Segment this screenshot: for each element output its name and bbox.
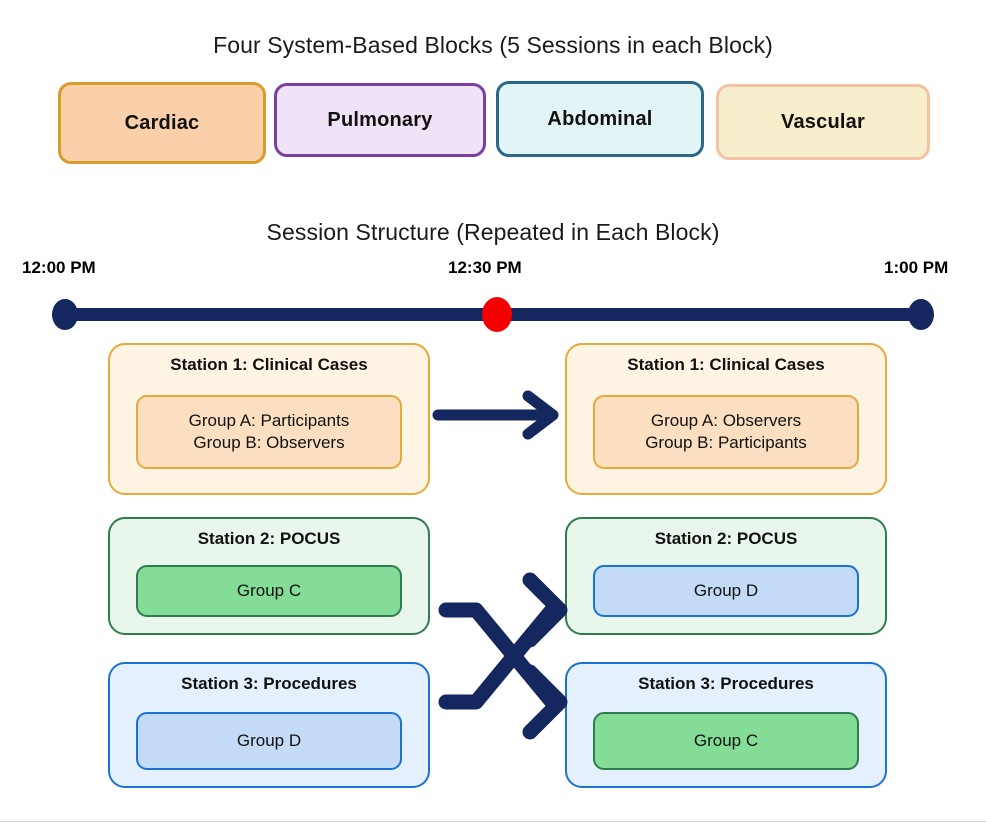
group-box: Group A: Participants Group B: Observers xyxy=(136,395,402,469)
station-card-right-3[interactable]: Station 3: Procedures Group C xyxy=(565,662,887,788)
footer-divider xyxy=(0,821,986,822)
group-box: Group C xyxy=(593,712,859,770)
group-box: Group D xyxy=(136,712,402,770)
station-card-left-1[interactable]: Station 1: Clinical Cases Group A: Parti… xyxy=(108,343,430,495)
timeline-start-dot xyxy=(52,299,78,330)
station-title: Station 3: Procedures xyxy=(567,674,885,694)
station-title: Station 1: Clinical Cases xyxy=(110,355,428,375)
station-title: Station 2: POCUS xyxy=(567,529,885,549)
block-chip-pulmonary[interactable]: Pulmonary xyxy=(274,83,486,157)
shuffle-icon xyxy=(432,562,600,740)
system-blocks-row: Cardiac Pulmonary Abdominal Vascular xyxy=(56,80,932,170)
station-title: Station 1: Clinical Cases xyxy=(567,355,885,375)
timeline-mid-label: 12:30 PM xyxy=(448,258,522,278)
timeline-mid-dot xyxy=(482,297,512,332)
timeline-start-label: 12:00 PM xyxy=(22,258,96,278)
diagram-canvas: Four System-Based Blocks (5 Sessions in … xyxy=(0,0,986,825)
station-title: Station 3: Procedures xyxy=(110,674,428,694)
session-timeline: 12:00 PM 12:30 PM 1:00 PM xyxy=(0,258,986,328)
station-card-left-3[interactable]: Station 3: Procedures Group D xyxy=(108,662,430,788)
group-line: Group A: Observers xyxy=(651,410,801,432)
timeline-end-dot xyxy=(908,299,934,330)
timeline-end-label: 1:00 PM xyxy=(884,258,948,278)
group-line: Group D xyxy=(694,580,758,602)
group-line: Group D xyxy=(237,730,301,752)
station-title: Station 2: POCUS xyxy=(110,529,428,549)
group-line: Group C xyxy=(694,730,758,752)
station-card-right-1[interactable]: Station 1: Clinical Cases Group A: Obser… xyxy=(565,343,887,495)
group-line: Group A: Participants xyxy=(189,410,350,432)
group-line: Group B: Observers xyxy=(193,432,344,454)
block-chip-label: Pulmonary xyxy=(327,109,432,132)
station-card-right-2[interactable]: Station 2: POCUS Group D xyxy=(565,517,887,635)
block-chip-label: Abdominal xyxy=(547,108,652,131)
block-chip-label: Cardiac xyxy=(125,112,200,135)
blocks-section-title: Four System-Based Blocks (5 Sessions in … xyxy=(0,32,986,59)
block-chip-vascular[interactable]: Vascular xyxy=(716,84,930,160)
group-box: Group C xyxy=(136,565,402,617)
block-chip-label: Vascular xyxy=(781,111,865,134)
station-card-left-2[interactable]: Station 2: POCUS Group C xyxy=(108,517,430,635)
block-chip-abdominal[interactable]: Abdominal xyxy=(496,81,704,157)
group-line: Group B: Participants xyxy=(645,432,807,454)
group-box: Group D xyxy=(593,565,859,617)
arrow-right-icon xyxy=(430,388,570,442)
group-box: Group A: Observers Group B: Participants xyxy=(593,395,859,469)
block-chip-cardiac[interactable]: Cardiac xyxy=(58,82,266,164)
session-section-title: Session Structure (Repeated in Each Bloc… xyxy=(0,219,986,246)
group-line: Group C xyxy=(237,580,301,602)
